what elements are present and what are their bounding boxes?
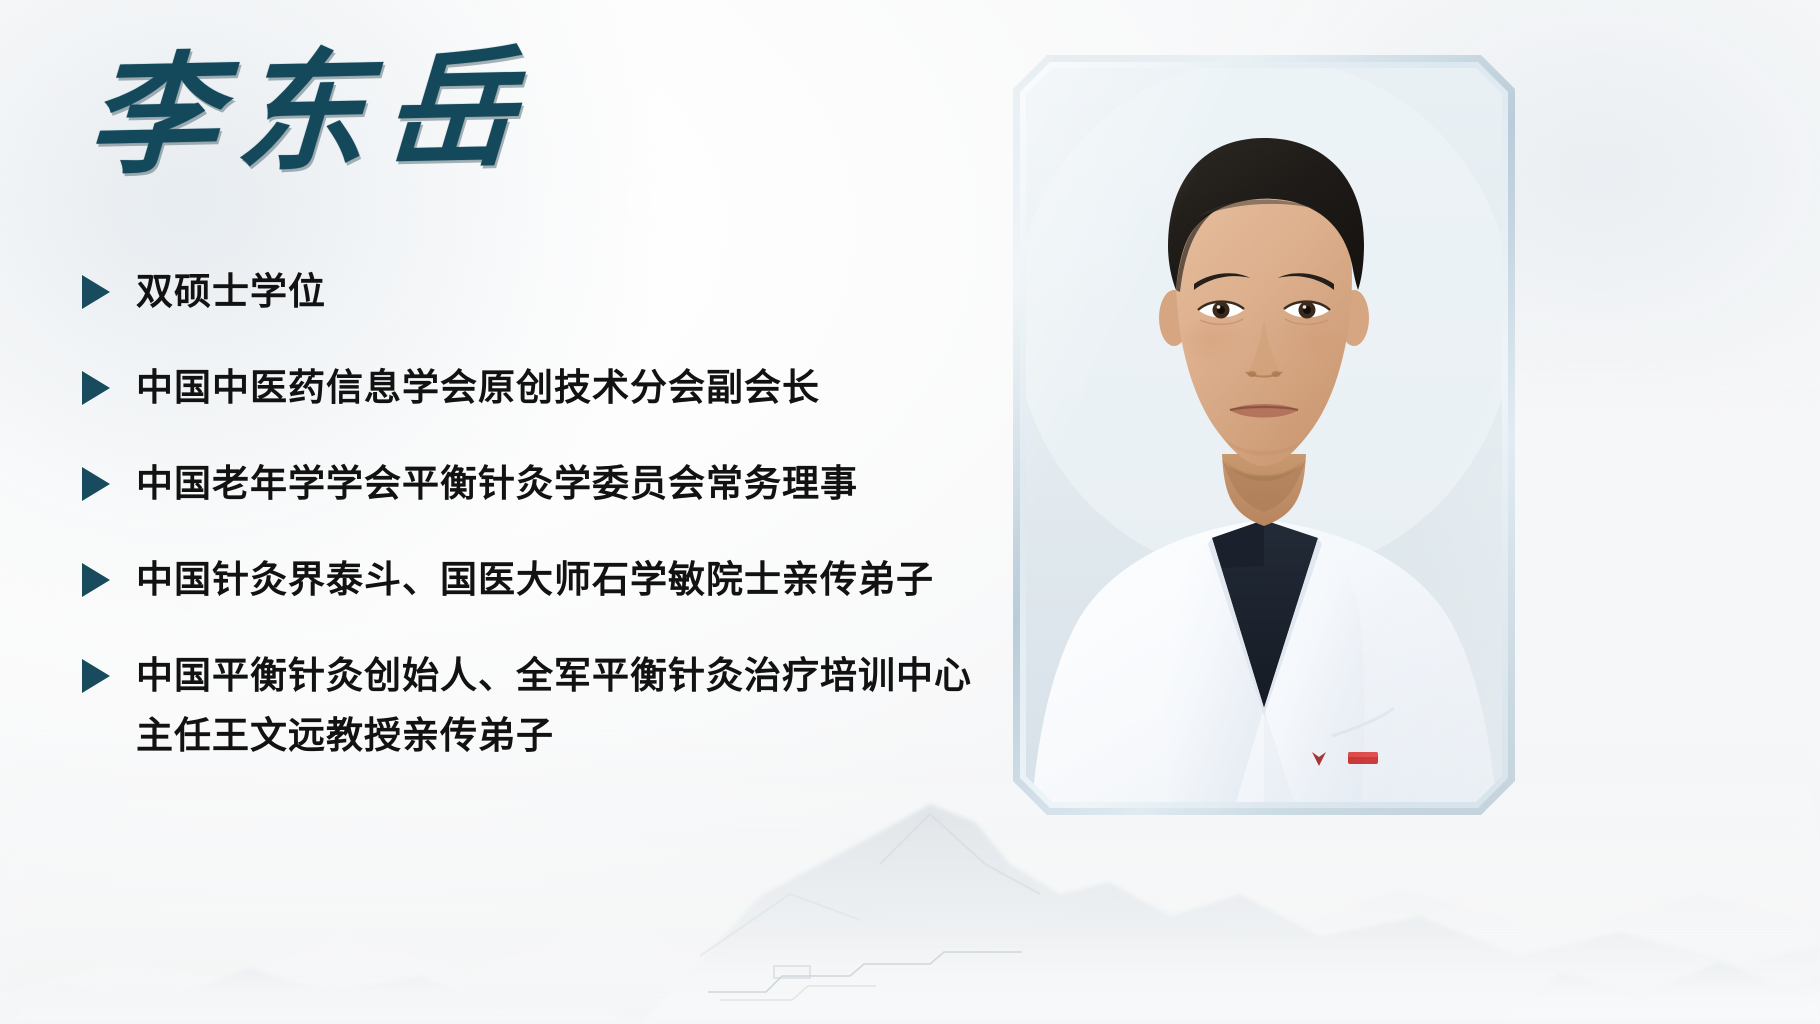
credential-text: 双硕士学位 — [136, 262, 976, 322]
triangle-bullet-icon — [82, 563, 110, 597]
credential-item: 中国平衡针灸创始人、全军平衡针灸治疗培训中心主任王文远教授亲传弟子 — [82, 646, 982, 766]
credential-item: 中国老年学学会平衡针灸学委员会常务理事 — [82, 454, 982, 514]
credential-text: 中国老年学学会平衡针灸学委员会常务理事 — [136, 454, 976, 514]
credentials-list: 双硕士学位 中国中医药信息学会原创技术分会副会长 中国老年学学会平衡针灸学委员会… — [82, 262, 982, 766]
credential-text: 中国中医药信息学会原创技术分会副会长 — [136, 358, 976, 418]
credential-item: 双硕士学位 — [82, 262, 982, 322]
triangle-bullet-icon — [82, 275, 110, 309]
credential-text: 中国平衡针灸创始人、全军平衡针灸治疗培训中心主任王文远教授亲传弟子 — [136, 646, 976, 766]
profile-slide: 李东岳 双硕士学位 中国中医药信息学会原创技术分会副会长 中国老年学学会平衡针灸… — [0, 0, 1820, 1024]
credential-item: 中国针灸界泰斗、国医大师石学敏院士亲传弟子 — [82, 550, 982, 610]
triangle-bullet-icon — [82, 467, 110, 501]
triangle-bullet-icon — [82, 371, 110, 405]
content-column: 李东岳 双硕士学位 中国中医药信息学会原创技术分会副会长 中国老年学学会平衡针灸… — [0, 0, 1000, 1024]
portrait-photo: 身着白大褂的中年男医生正面免冠照片 — [1026, 68, 1502, 802]
triangle-bullet-icon — [82, 659, 110, 693]
portrait-frame: 身着白大褂的中年男医生正面免冠照片 — [1013, 55, 1515, 815]
person-name-calligraphy: 李东岳 — [85, 43, 536, 182]
credential-text: 中国针灸界泰斗、国医大师石学敏院士亲传弟子 — [136, 550, 976, 610]
credential-item: 中国中医药信息学会原创技术分会副会长 — [82, 358, 982, 418]
portrait-photo-area: 身着白大褂的中年男医生正面免冠照片 — [1026, 68, 1502, 802]
